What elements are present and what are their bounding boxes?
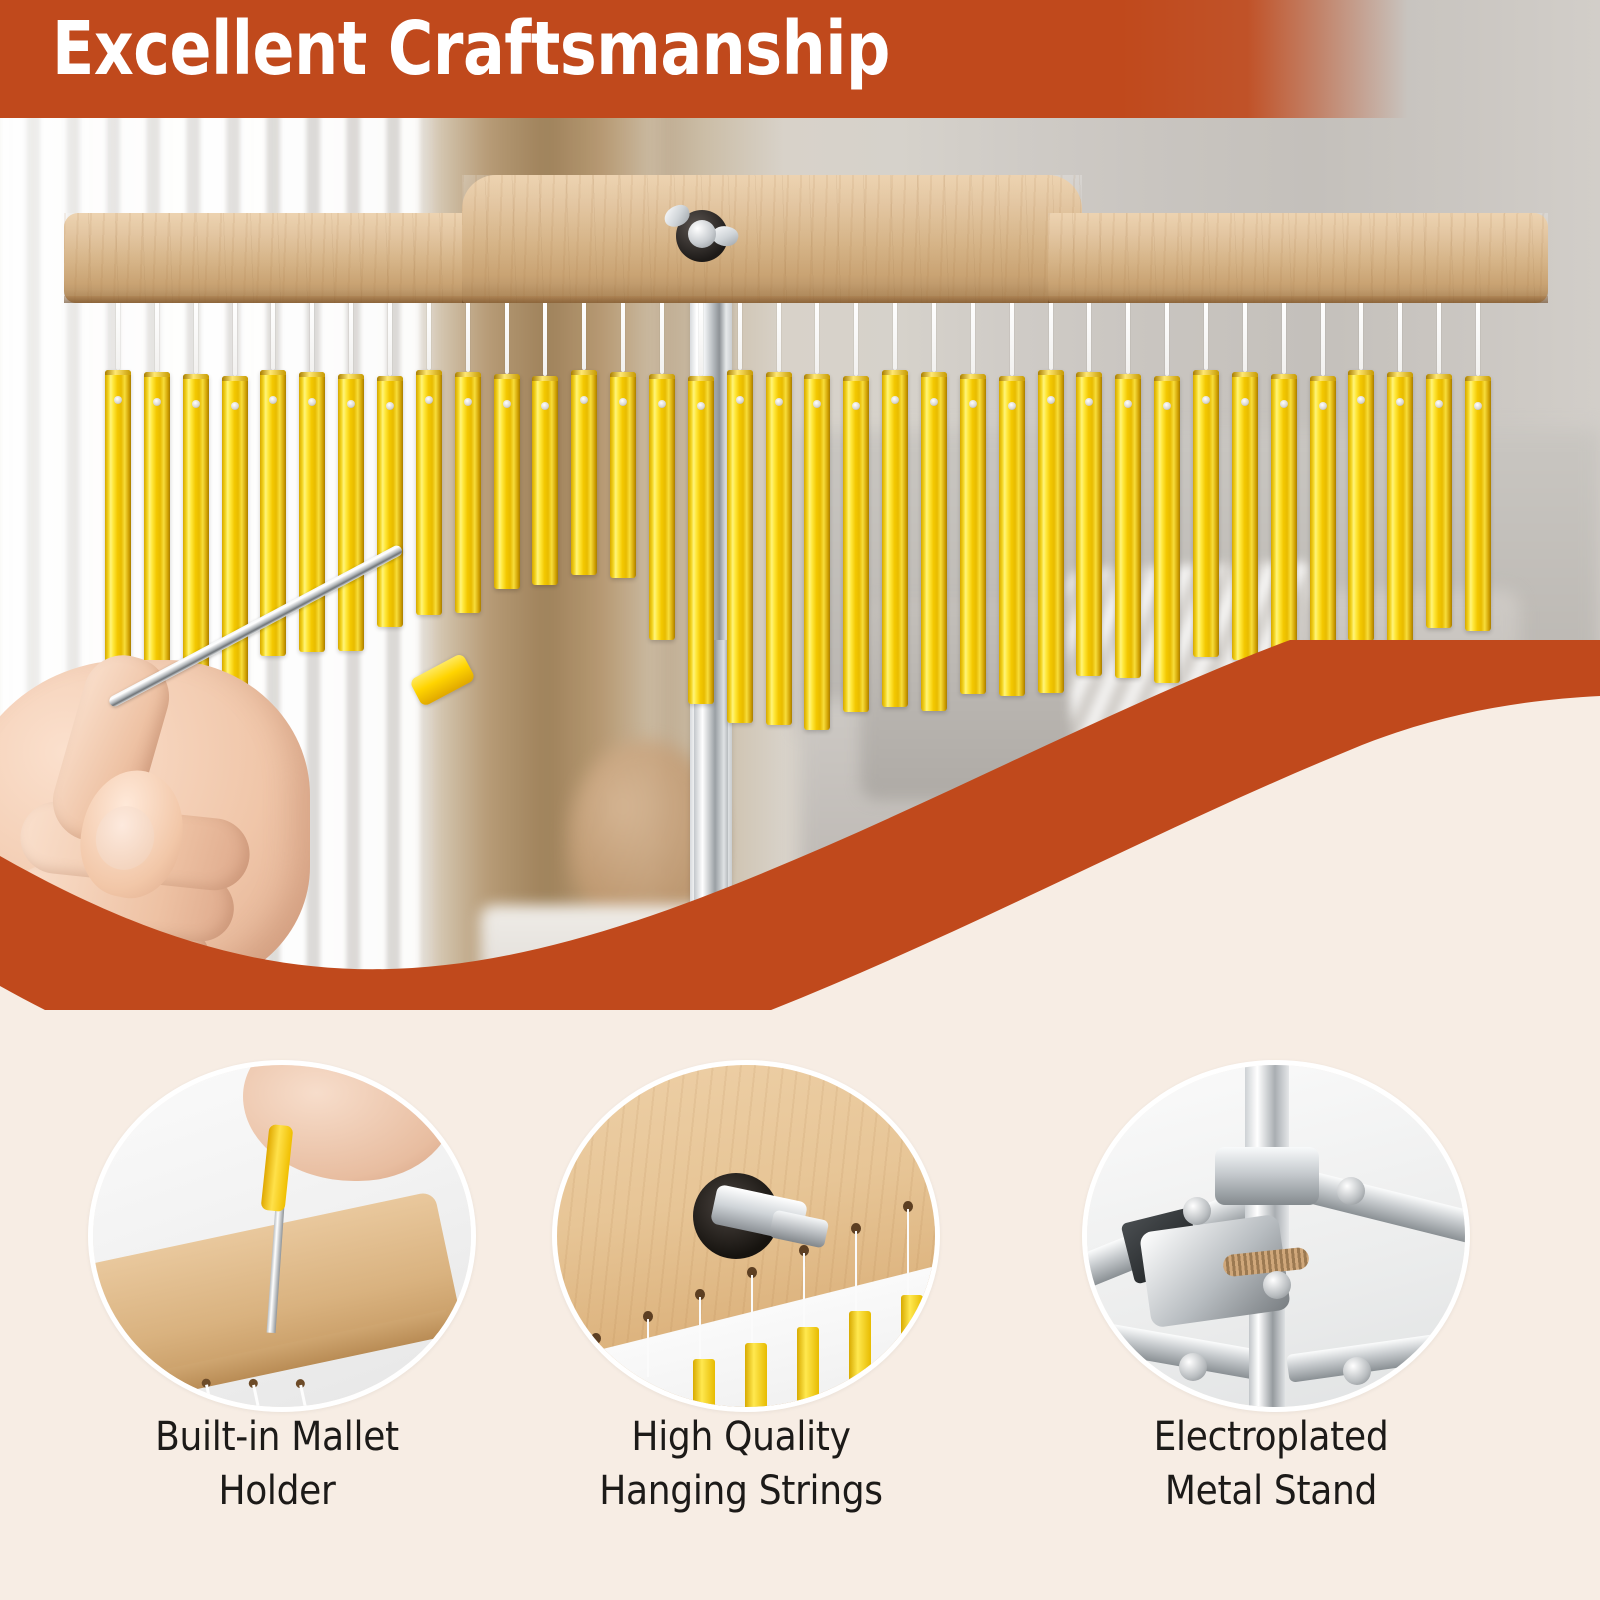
- thumbnail-image-3: [1087, 1065, 1465, 1407]
- caption-line-2: Holder: [57, 1464, 497, 1518]
- gold-chime-tube: [745, 1343, 767, 1411]
- gold-chime-tube: [299, 372, 325, 652]
- wood-edge-shadow: [64, 296, 496, 303]
- chime-bar: [1348, 300, 1374, 641]
- hanging-string: [252, 1385, 268, 1412]
- rivet: [1337, 1177, 1365, 1205]
- hanging-string: [1204, 300, 1208, 370]
- chime-bar: [1193, 300, 1219, 657]
- chime-bar: [1387, 300, 1413, 646]
- chime-bar: [1115, 300, 1141, 678]
- hanging-string: [205, 1384, 221, 1412]
- feature-thumbnail-mallet-holder[interactable]: [88, 1060, 476, 1412]
- gold-chime-tube: [571, 370, 597, 575]
- gold-chime-tube: [1465, 376, 1491, 631]
- gold-chime-tube: [338, 374, 364, 651]
- gold-chime-tube: [1193, 370, 1219, 657]
- gold-chime-tube: [1310, 376, 1336, 647]
- feature-captions: Built-in Mallet Holder High Quality Hang…: [0, 1410, 1600, 1590]
- hanging-string: [1126, 300, 1130, 374]
- caption-line-1: Built-in Mallet: [57, 1410, 497, 1464]
- chime-bar: [260, 300, 286, 656]
- hanging-string: [803, 1253, 806, 1329]
- thumbnail-image-2: [557, 1065, 935, 1407]
- chime-bar: [649, 300, 675, 640]
- caption-metal-stand: Electroplated Metal Stand: [1051, 1410, 1491, 1518]
- caption-line-1: High Quality: [521, 1410, 961, 1464]
- hanging-string: [299, 1385, 315, 1412]
- hanging-string: [777, 300, 781, 372]
- hanging-string: [1049, 300, 1053, 370]
- gold-chime-tube: [1232, 372, 1258, 660]
- gold-chime-tube: [532, 376, 558, 585]
- hanging-string: [893, 300, 897, 370]
- hanging-string: [699, 300, 703, 376]
- features-section: Built-in Mallet Holder High Quality Hang…: [0, 1010, 1600, 1600]
- wood-left-section: [64, 213, 496, 303]
- thumb3-collar-clamp: [1215, 1147, 1319, 1205]
- hanging-string: [621, 300, 625, 372]
- hanging-string: [310, 300, 314, 372]
- chime-bar: [1426, 300, 1452, 628]
- chime-bar: [455, 300, 481, 613]
- caption-line-1: Electroplated: [1051, 1410, 1491, 1464]
- hero-product-photo: MADE IN CHINA: [0, 0, 1600, 1010]
- bolt-head: [688, 220, 716, 248]
- chime-bar: [960, 300, 986, 694]
- gold-chime-tube: [797, 1327, 819, 1403]
- hanging-string: [1010, 300, 1014, 376]
- wood-grain-texture: [1048, 213, 1548, 303]
- hanging-string: [1165, 300, 1169, 376]
- chime-bar: [610, 300, 636, 578]
- feature-thumbnails: [0, 1060, 1600, 1410]
- hanging-string: [1359, 300, 1363, 370]
- gold-chime-tube: [416, 370, 442, 615]
- hanging-string: [111, 1384, 127, 1412]
- chime-bar: [377, 300, 403, 627]
- hanging-string: [699, 1297, 702, 1361]
- caption-line-2: Hanging Strings: [521, 1464, 961, 1518]
- chime-bar: [494, 300, 520, 589]
- wood-edge-shadow: [1048, 296, 1548, 303]
- hanging-string: [582, 300, 586, 370]
- hanging-string: [647, 1319, 650, 1377]
- gold-chime-tube: [693, 1359, 715, 1412]
- hanging-string: [505, 300, 509, 374]
- hanging-string: [751, 1275, 754, 1345]
- hanging-string: [855, 1231, 858, 1313]
- gold-chime-tube: [649, 374, 675, 640]
- gold-chime-tube: [849, 1311, 871, 1395]
- hanging-string: [1243, 300, 1247, 372]
- chime-bar: [416, 300, 442, 615]
- rivet: [1263, 1271, 1291, 1299]
- gold-chime-tube: [1115, 374, 1141, 678]
- gold-chime-tube: [377, 376, 403, 627]
- hanging-string: [971, 300, 975, 374]
- hanging-string: [158, 1384, 174, 1412]
- hanging-string: [349, 300, 353, 374]
- chime-bar: [1076, 300, 1102, 676]
- wing-nut-mount: [662, 202, 742, 266]
- gold-chime-tube: [1348, 370, 1374, 641]
- gold-chime-tube: [901, 1295, 923, 1387]
- hanging-string: [543, 300, 547, 376]
- wood-edge-shadow: [462, 296, 1082, 303]
- chime-bar: [1154, 300, 1180, 683]
- hanging-string: [233, 300, 237, 376]
- header-banner: Excellent Craftsmanship: [0, 0, 1600, 118]
- hanging-string: [907, 1209, 910, 1297]
- hanging-string: [932, 300, 936, 372]
- gold-chime-tube: [610, 372, 636, 578]
- rivet: [1343, 1357, 1371, 1385]
- gold-chime-tube: [1154, 376, 1180, 683]
- hanging-string: [427, 300, 431, 370]
- hanging-string: [595, 1341, 598, 1393]
- chime-bar: [1465, 300, 1491, 631]
- rivet: [1183, 1197, 1211, 1225]
- hanging-string: [854, 300, 858, 376]
- feature-thumbnail-metal-stand[interactable]: [1082, 1060, 1470, 1412]
- rivet: [1179, 1353, 1207, 1381]
- caption-line-2: Metal Stand: [1051, 1464, 1491, 1518]
- wood-grain-texture: [462, 175, 1082, 303]
- chime-bar: [999, 300, 1025, 696]
- gold-chime-tube: [455, 372, 481, 613]
- hanging-string: [116, 300, 120, 370]
- hanging-string: [1321, 300, 1325, 376]
- chime-bar: [338, 300, 364, 651]
- wood-grain-texture: [64, 213, 496, 303]
- gold-chime-tube: [1426, 374, 1452, 628]
- gold-chime-tube: [1271, 374, 1297, 664]
- hanging-string: [388, 300, 392, 376]
- chime-bar: [1038, 300, 1064, 693]
- chime-bar: [1310, 300, 1336, 647]
- chime-bar: [571, 300, 597, 575]
- gold-chime-tube: [1076, 372, 1102, 676]
- page-title: Excellent Craftsmanship: [52, 6, 890, 92]
- hanging-string: [466, 300, 470, 372]
- hanging-string: [660, 300, 664, 374]
- feature-thumbnail-hanging-strings[interactable]: [552, 1060, 940, 1412]
- chime-bar: [532, 300, 558, 585]
- hanging-string: [1437, 300, 1441, 374]
- hanging-string: [815, 300, 819, 374]
- caption-hanging-strings: High Quality Hanging Strings: [521, 1410, 961, 1518]
- product-infographic: MADE IN CHINA: [0, 0, 1600, 1600]
- wood-right-section: MADE IN CHINA: [1048, 213, 1548, 303]
- hanging-string: [738, 300, 742, 370]
- hanging-string: [1476, 300, 1480, 376]
- hanging-string: [1087, 300, 1091, 372]
- gold-chime-tube: [1387, 372, 1413, 646]
- chime-bar: [1271, 300, 1297, 664]
- gold-chime-tube: [494, 374, 520, 589]
- hanging-string: [194, 300, 198, 374]
- thumbnail-image-1: [93, 1065, 471, 1407]
- hanging-string: [155, 300, 159, 372]
- hanging-string: [1398, 300, 1402, 372]
- hanging-string: [1282, 300, 1286, 374]
- hanging-string: [271, 300, 275, 370]
- wood-center-hump: [462, 175, 1082, 303]
- caption-mallet-holder: Built-in Mallet Holder: [57, 1410, 497, 1518]
- wave-divider: [0, 640, 1600, 1010]
- wooden-top-bar: MADE IN CHINA: [64, 175, 1548, 303]
- chime-bar: [1232, 300, 1258, 660]
